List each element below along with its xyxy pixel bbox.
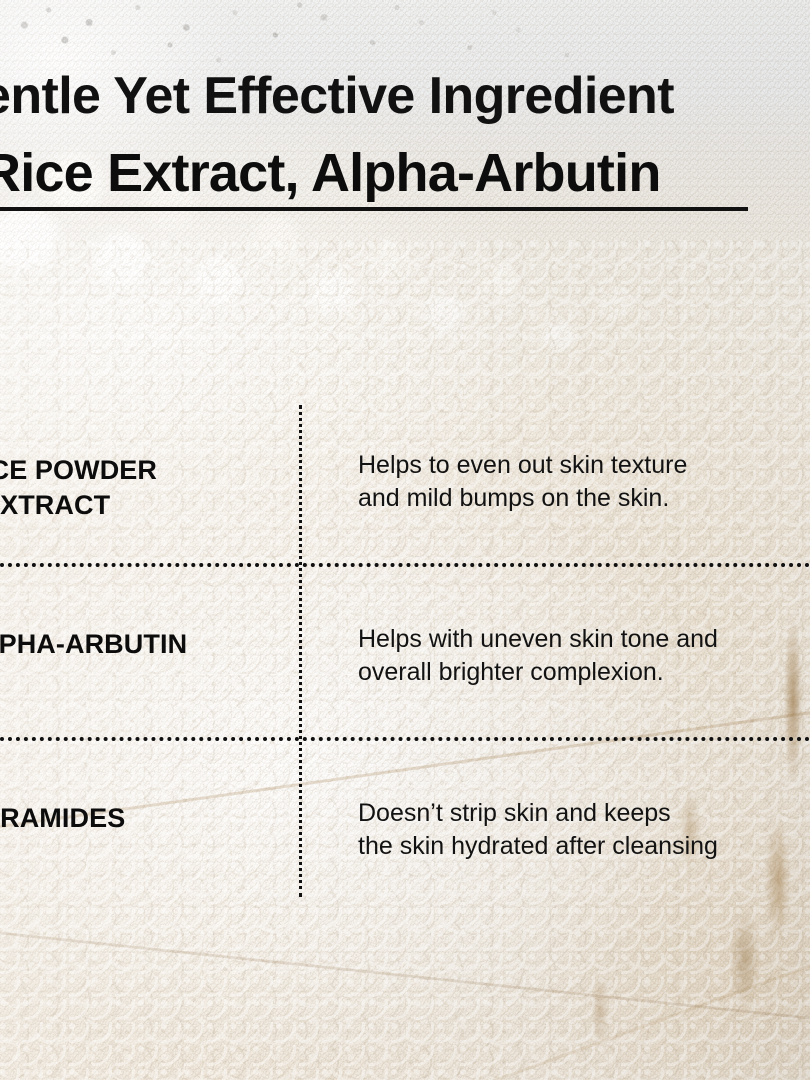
table-column-divider (299, 405, 302, 897)
headline-line-2: Rice Extract, Alpha-Arbutin (0, 142, 661, 204)
ingredient-name: LPHA-ARBUTIN (0, 627, 282, 662)
table-row-divider-2 (0, 737, 810, 741)
ingredient-name: ICE POWDER EXTRACT (0, 453, 282, 522)
ingredient-description: Helps with uneven skin tone and overall … (358, 623, 810, 689)
table-row-divider-1 (0, 563, 810, 567)
ingredient-description: Doesn’t strip skin and keeps the skin hy… (358, 797, 810, 863)
ingredient-description: Helps to even out skin texture and mild … (358, 449, 810, 515)
promo-banner: entle Yet Effective Ingredient Rice Extr… (0, 0, 810, 1080)
headline-line-1: entle Yet Effective Ingredient (0, 66, 674, 126)
ingredient-name: ERAMIDES (0, 801, 282, 836)
headline-underline (0, 207, 748, 211)
ingredient-table: ICE POWDER EXTRACT Helps to even out ski… (0, 405, 810, 897)
